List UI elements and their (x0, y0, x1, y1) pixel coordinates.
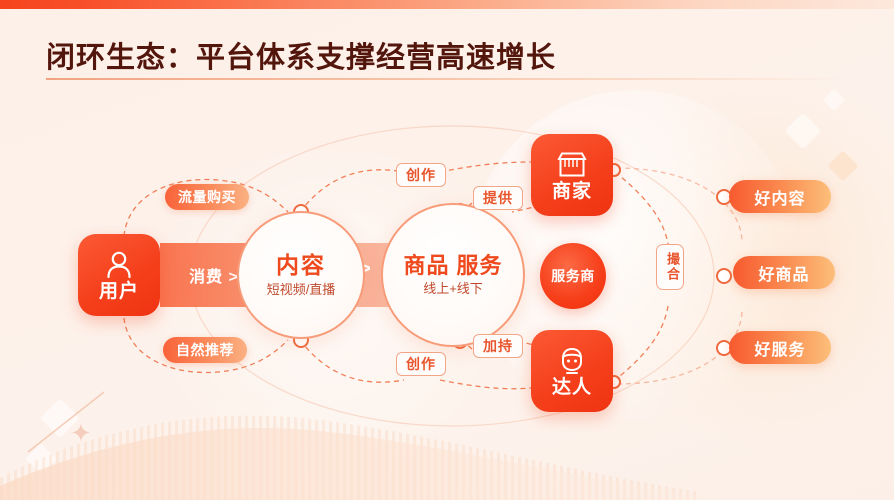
circle-content-subtitle: 短视频/直播 (267, 283, 336, 297)
label-provide: 提供 (473, 186, 523, 210)
node-user-label: 用户 (99, 282, 139, 301)
pill-outcome-good-content[interactable]: 好内容 (729, 180, 831, 213)
person-icon (102, 250, 136, 280)
influencer-face-icon (555, 346, 589, 376)
slide-canvas: ✦ 闭环生态：平台体系支撑经营高速增长 (0, 0, 894, 500)
node-talent-label: 达人 (552, 378, 592, 397)
pill-traffic-purchase[interactable]: 流量购买 (165, 184, 249, 210)
pill-outcome-good-service[interactable]: 好服务 (729, 331, 831, 364)
label-empower: 加持 (473, 334, 523, 358)
shop-icon (555, 150, 589, 180)
label-match: 撮合 (656, 244, 684, 290)
pill-organic-recommendation[interactable]: 自然推荐 (163, 337, 247, 363)
circle-goods-title: 商品 服务 (403, 254, 502, 278)
circle-goods[interactable]: 商品 服务 线上+线下 (381, 203, 525, 347)
node-merchant-label: 商家 (552, 182, 592, 201)
circle-content-title: 内容 (276, 253, 326, 278)
node-service-provider[interactable]: 服务商 (540, 243, 606, 309)
node-service-provider-label: 服务商 (551, 266, 595, 286)
pill-outcome-good-goods[interactable]: 好商品 (733, 256, 835, 289)
circle-goods-subtitle: 线上+线下 (423, 282, 483, 296)
circle-content[interactable]: 内容 短视频/直播 (237, 211, 365, 339)
label-create-top: 创作 (396, 163, 446, 187)
node-merchant[interactable]: 商家 (531, 134, 613, 216)
node-user[interactable]: 用户 (78, 234, 160, 316)
label-create-bottom: 创作 (396, 352, 446, 376)
node-talent[interactable]: 达人 (531, 330, 613, 412)
